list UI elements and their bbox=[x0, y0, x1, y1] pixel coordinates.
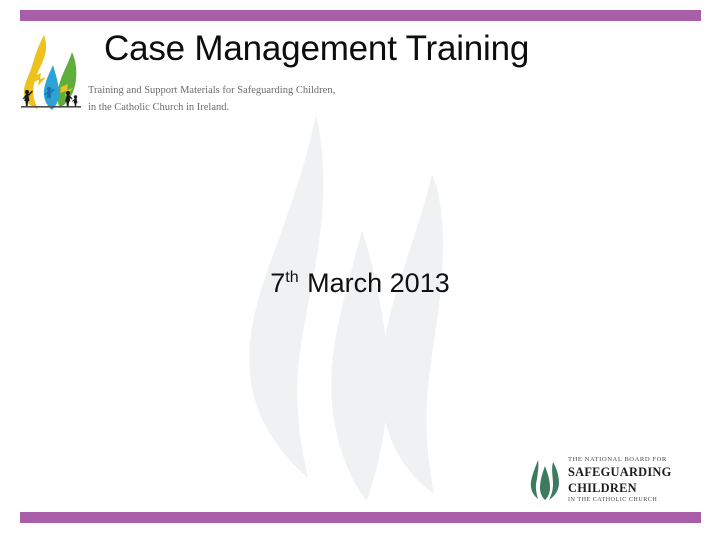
slide-date: 7th March 2013 bbox=[0, 268, 720, 299]
date-ordinal-suffix: th bbox=[285, 269, 298, 286]
safeguarding-flame-logo-icon bbox=[13, 32, 89, 112]
brand-line-catholic-church: IN THE CATHOLIC CHURCH bbox=[568, 497, 720, 505]
national-board-flame-icon bbox=[530, 459, 560, 501]
footer-brand-text: THE NATIONAL BOARD FOR SAFEGUARDING CHIL… bbox=[568, 456, 720, 504]
brand-line-national-board: THE NATIONAL BOARD FOR bbox=[568, 456, 720, 464]
subtitle-line-1: Training and Support Materials for Safeg… bbox=[88, 82, 418, 99]
bottom-divider-rule bbox=[20, 512, 701, 523]
brand-line-safeguarding-children: SAFEGUARDING CHILDREN bbox=[568, 465, 720, 496]
page-title: Case Management Training bbox=[104, 28, 704, 69]
date-day: 7 bbox=[270, 268, 285, 298]
flame-watermark-icon bbox=[246, 112, 492, 500]
slide-canvas: Case Management Training Training and Su… bbox=[0, 0, 720, 540]
subtitle-line-2: in the Catholic Church in Ireland. bbox=[88, 99, 418, 116]
top-divider-rule bbox=[20, 10, 701, 21]
date-month-year: March 2013 bbox=[299, 268, 450, 298]
slide-subtitle: Training and Support Materials for Safeg… bbox=[88, 82, 418, 116]
footer-brand-lockup: THE NATIONAL BOARD FOR SAFEGUARDING CHIL… bbox=[530, 456, 720, 504]
